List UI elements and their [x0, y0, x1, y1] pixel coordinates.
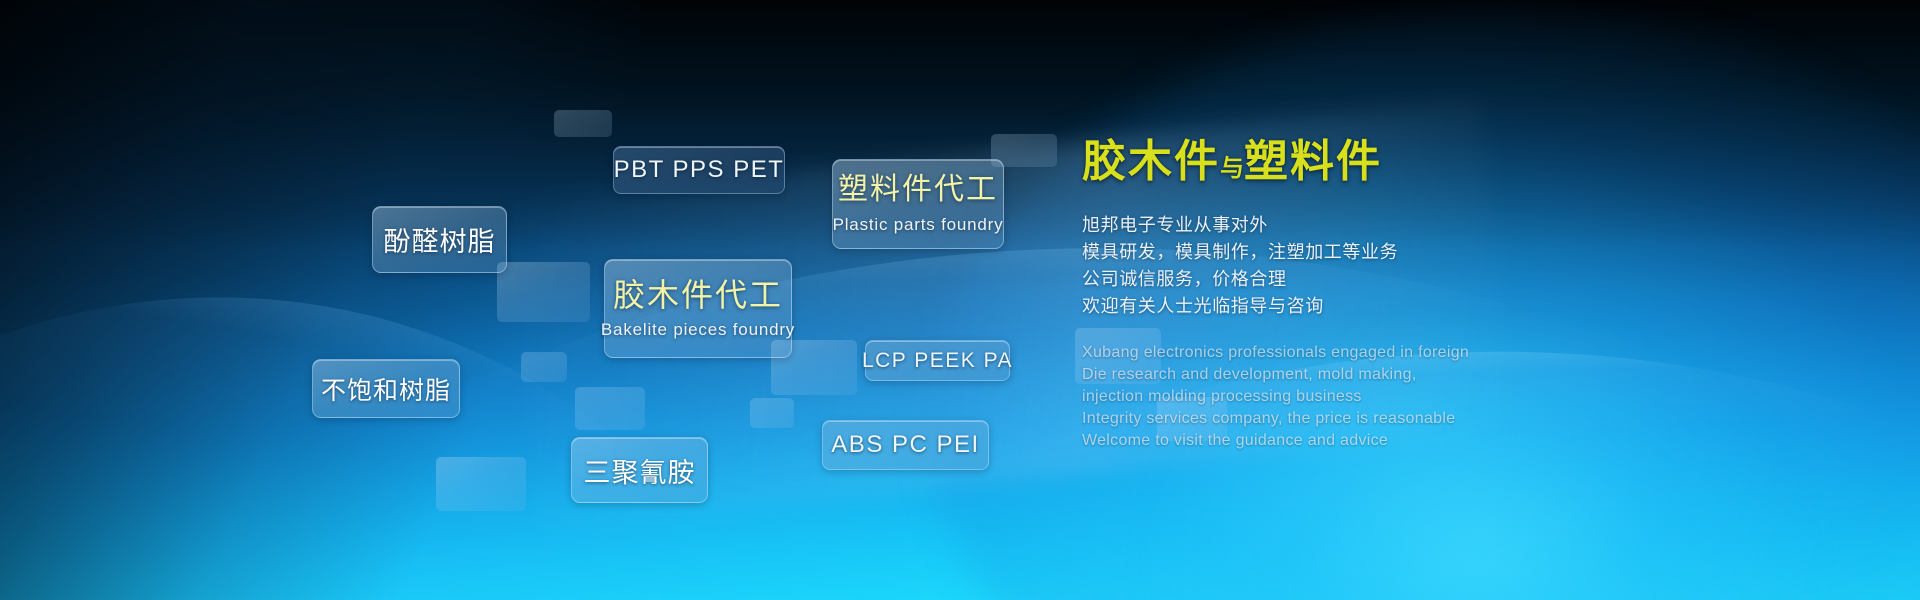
description-en-line: Xubang electronics professionals engaged…: [1082, 342, 1782, 364]
material-card-label: PBT PPS PET: [614, 156, 785, 184]
description-chinese: 旭邦电子专业从事对外 模具研发，模具制作，注塑加工等业务 公司诚信服务，价格合理…: [1082, 212, 1782, 320]
description-cn-line: 旭邦电子专业从事对外: [1082, 212, 1782, 239]
service-card-title-cn: 胶木件代工: [613, 277, 783, 314]
decorative-rect-6: [575, 387, 645, 430]
description-en-line: Die research and development, mold makin…: [1082, 364, 1782, 386]
decorative-rect-1: [554, 110, 612, 137]
material-card-phenolic-resin[interactable]: 酚醛树脂: [372, 206, 507, 273]
material-card-unsaturated-resin[interactable]: 不饱和树脂: [312, 359, 460, 418]
material-card-label: ABS PC PEI: [831, 431, 979, 459]
banner-text-block: 胶木件与塑料件 旭邦电子专业从事对外 模具研发，模具制作，注塑加工等业务 公司诚…: [1082, 138, 1782, 452]
decorative-rect-4: [521, 352, 567, 382]
material-card-label: 酚醛树脂: [384, 220, 496, 259]
service-card-title-cn: 塑料件代工: [838, 173, 998, 208]
headline-part2: 塑料件: [1244, 137, 1382, 186]
decorative-rect-7: [750, 398, 794, 428]
promotional-banner: PBT PPS PET LCP PEEK PA ABS PC PEI 酚醛树脂 …: [0, 0, 1920, 600]
decorative-rect-8: [436, 457, 526, 511]
headline-conjunction: 与: [1220, 155, 1244, 182]
service-card-title-en: Plastic parts foundry: [833, 215, 1004, 235]
decorative-rect-3: [497, 262, 590, 322]
material-card-abs-pc-pei[interactable]: ABS PC PEI: [822, 420, 989, 470]
description-cn-line: 公司诚信服务，价格合理: [1082, 266, 1782, 293]
material-card-melamine[interactable]: 三聚氰胺: [571, 437, 708, 503]
material-card-label: 不饱和树脂: [321, 371, 451, 407]
material-card-lcp-peek-pa[interactable]: LCP PEEK PA: [865, 340, 1010, 381]
service-card-bakelite-pieces-foundry[interactable]: 胶木件代工 Bakelite pieces foundry: [604, 259, 792, 358]
description-cn-line: 欢迎有关人士光临指导与咨询: [1082, 293, 1782, 320]
description-cn-line: 模具研发，模具制作，注塑加工等业务: [1082, 239, 1782, 266]
description-en-line: Welcome to visit the guidance and advice: [1082, 430, 1782, 452]
description-en-line: Integrity services company, the price is…: [1082, 408, 1782, 430]
material-card-label: LCP PEEK PA: [862, 349, 1013, 373]
description-english: Xubang electronics professionals engaged…: [1082, 342, 1782, 452]
material-card-pbt-pps-pet[interactable]: PBT PPS PET: [613, 146, 785, 194]
material-card-label: 三聚氰胺: [584, 451, 696, 490]
description-en-line: injection molding processing business: [1082, 386, 1782, 408]
service-card-plastic-parts-foundry[interactable]: 塑料件代工 Plastic parts foundry: [832, 159, 1004, 249]
service-card-title-en: Bakelite pieces foundry: [601, 320, 795, 340]
headline: 胶木件与塑料件: [1082, 138, 1782, 186]
headline-part1: 胶木件: [1082, 137, 1220, 186]
